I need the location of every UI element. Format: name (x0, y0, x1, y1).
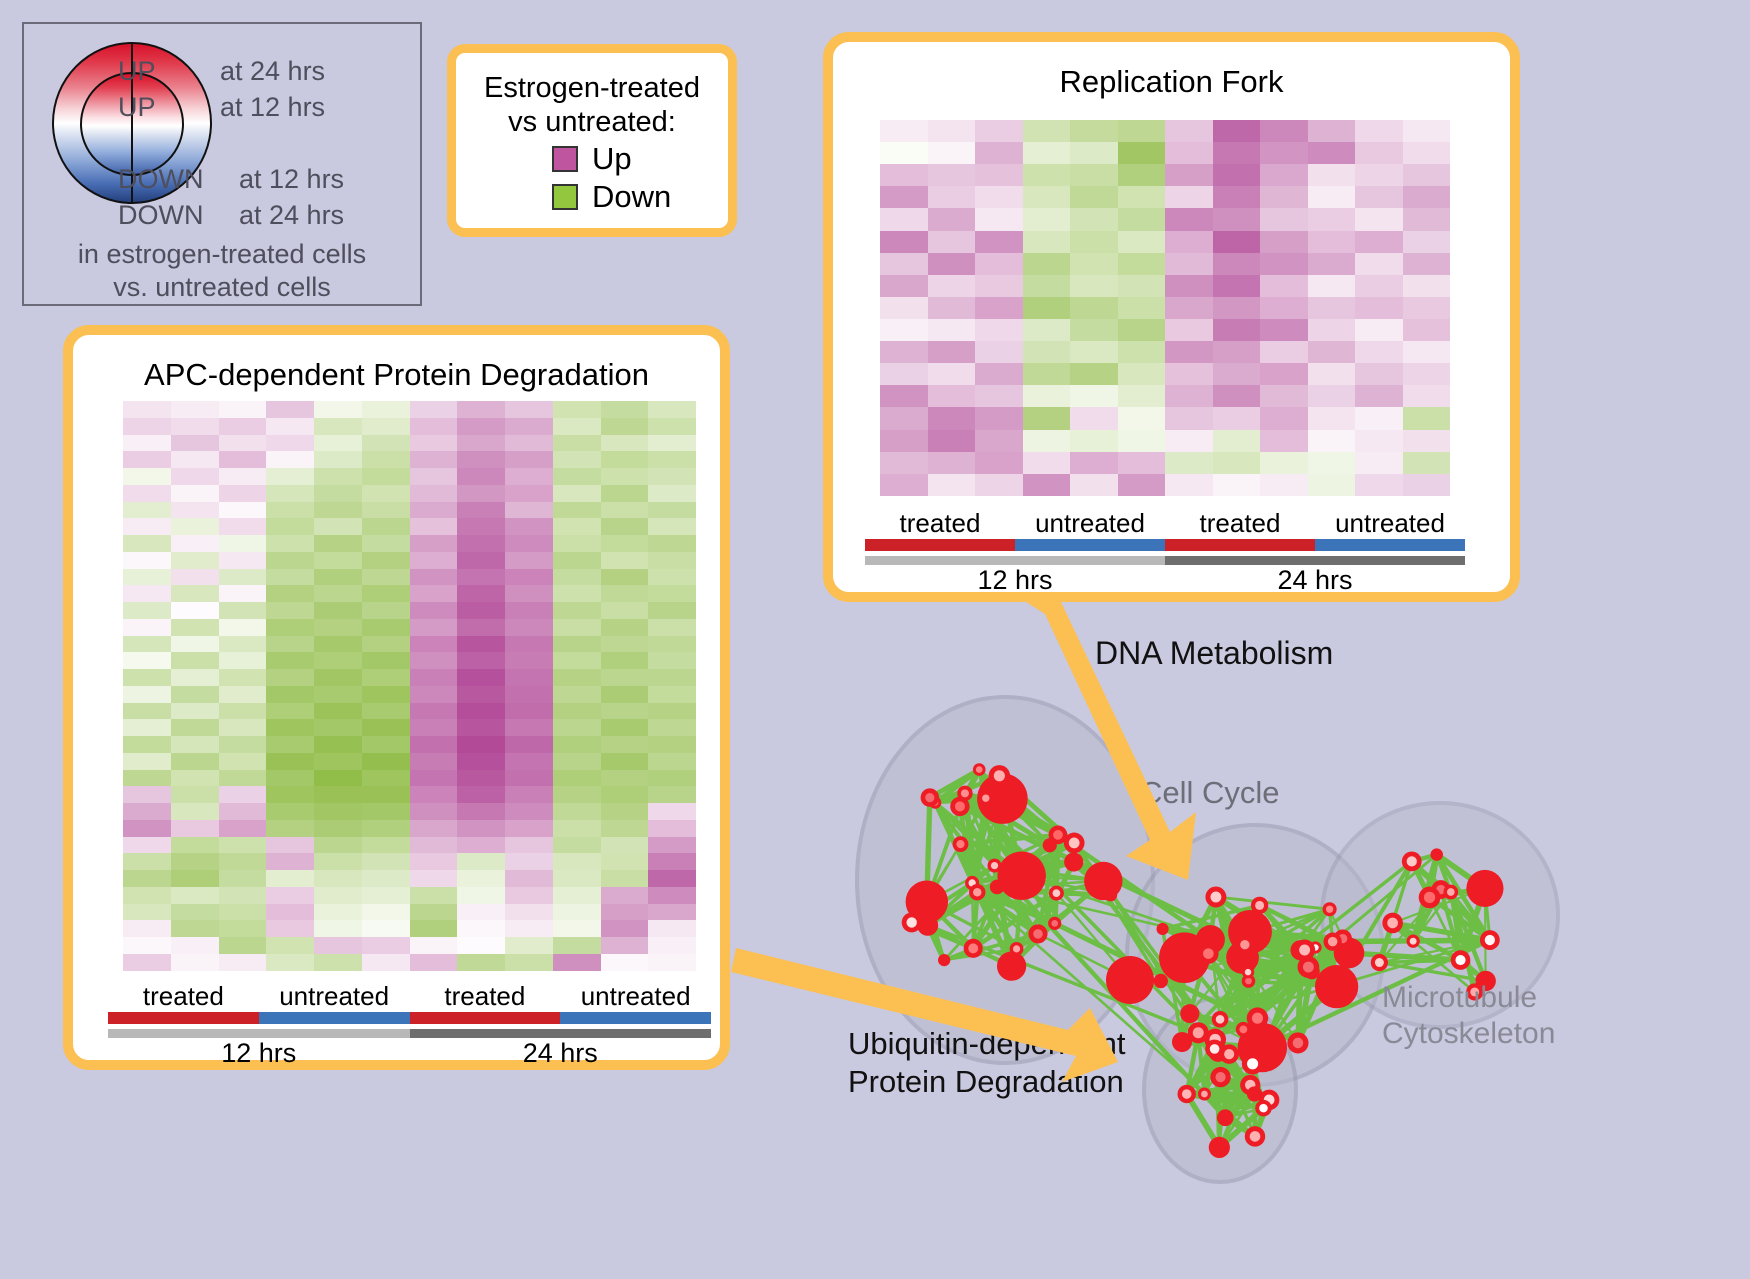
heatmap-cell (1403, 186, 1451, 208)
heatmap-cell (505, 904, 553, 921)
network-node[interactable] (1198, 943, 1218, 963)
heatmap-cell (362, 753, 410, 770)
network-node[interactable] (989, 765, 1010, 786)
network-node[interactable] (1406, 935, 1419, 948)
heatmap-cell (1403, 275, 1451, 297)
network-node[interactable] (1255, 1100, 1271, 1116)
wheel-caption: in estrogen-treated cells vs. untreated … (24, 238, 420, 305)
network-node[interactable] (1049, 886, 1064, 901)
heatmap-cell (219, 920, 267, 937)
heatmap-cell (1023, 253, 1071, 275)
network-node[interactable] (1324, 933, 1342, 951)
heatmap-cell (1118, 164, 1166, 186)
node-inner-fill (1424, 892, 1435, 903)
heatmap-cell (553, 887, 601, 904)
network-node[interactable] (938, 954, 950, 966)
heatmap-cell (123, 602, 171, 619)
node-inner-fill (907, 917, 917, 927)
heatmap-cell (553, 803, 601, 820)
heatmap-cell (505, 870, 553, 887)
heatmap-cell (457, 652, 505, 669)
heatmap-cell (601, 887, 649, 904)
node-inner-fill (1210, 1044, 1220, 1054)
heatmap-cell (1260, 407, 1308, 429)
heatmap-cell (1118, 385, 1166, 407)
heatmap-cell (123, 703, 171, 720)
network-node[interactable] (997, 952, 1026, 981)
heatmap-cell (171, 753, 219, 770)
network-node[interactable] (1048, 917, 1061, 930)
heatmap-cell (266, 870, 314, 887)
heatmap-cell (601, 803, 649, 820)
heatmap-cell (1023, 363, 1071, 385)
heatmap-cell (648, 619, 696, 636)
heatmap-cell (648, 904, 696, 921)
network-node[interactable] (1180, 1004, 1199, 1023)
heatmap-cell (1070, 186, 1118, 208)
network-node[interactable] (1209, 1137, 1230, 1158)
heatmap-cell (553, 518, 601, 535)
heatmap-cell (123, 451, 171, 468)
heatmap-cell (1213, 452, 1261, 474)
heatmap-cell (171, 904, 219, 921)
heatmap-row (123, 619, 696, 636)
heatmap-cell (123, 904, 171, 921)
heatmap-cell (457, 920, 505, 937)
heatmap-cell (314, 904, 362, 921)
heatmap-cell (1355, 430, 1403, 452)
network-node[interactable] (1382, 913, 1403, 934)
heatmap-cell (171, 837, 219, 854)
heatmap-cell (1308, 120, 1356, 142)
heatmap-cell (1165, 231, 1213, 253)
node-inner-fill (973, 888, 982, 897)
heatmap-cell (171, 820, 219, 837)
network-node[interactable] (969, 884, 985, 900)
network-node[interactable] (1242, 966, 1254, 978)
network-node[interactable] (1028, 924, 1047, 943)
network-node[interactable] (1104, 888, 1117, 901)
heatmap-cell (266, 485, 314, 502)
node-inner-fill (1247, 1058, 1258, 1069)
network-node[interactable] (1217, 1109, 1234, 1126)
heatmap-cell (553, 468, 601, 485)
network-node[interactable] (1251, 897, 1268, 914)
heatmap-cell (410, 552, 458, 569)
heatmap-cell (553, 937, 601, 954)
heatmap-cell (880, 186, 928, 208)
heatmap-cell (648, 786, 696, 803)
heatmap-cell (266, 820, 314, 837)
heatmap-cell (1023, 186, 1071, 208)
heatmap-cell (1070, 341, 1118, 363)
heatmap-cell (928, 186, 976, 208)
heatmap-cell (1260, 186, 1308, 208)
node-inner-fill (1299, 945, 1310, 956)
heatmap-cell (880, 452, 928, 474)
heatmap-cell (171, 451, 219, 468)
network-node[interactable] (988, 859, 1002, 873)
heatmap-cell (1213, 208, 1261, 230)
network-node[interactable] (1177, 1085, 1195, 1103)
heatmap-cell (1355, 208, 1403, 230)
node-inner-fill (1216, 1015, 1225, 1024)
heatmap-cell (975, 474, 1023, 496)
heatmap-cell (1260, 231, 1308, 253)
heatmap-cell (219, 552, 267, 569)
heatmap-cell (505, 418, 553, 435)
heatmap-cell (1118, 363, 1166, 385)
wheel-caption-line2: vs. untreated cells (24, 271, 420, 304)
heatmap-row (123, 803, 696, 820)
heatmap-cell (219, 786, 267, 803)
heatmap-cell (314, 518, 362, 535)
heatmap-cell (171, 853, 219, 870)
heatmap-cell (1118, 142, 1166, 164)
heatmap-cell (219, 418, 267, 435)
node-inner-fill (1387, 918, 1398, 929)
heatmap-cell (314, 920, 362, 937)
heatmap-cell (362, 435, 410, 452)
network-node[interactable] (957, 786, 972, 801)
heatmap-cell (648, 719, 696, 736)
node-outer-ring (938, 954, 950, 966)
heatmap-cell (1403, 319, 1451, 341)
heatmap-cell (410, 518, 458, 535)
heatmap-cell (1355, 341, 1403, 363)
heatmap-cell (266, 636, 314, 653)
network-node[interactable] (990, 880, 1005, 895)
heatmap-cell (171, 803, 219, 820)
heatmap-cell (219, 686, 267, 703)
heatmap-cell (314, 820, 362, 837)
heatmap-cell (362, 803, 410, 820)
heatmap-cell (171, 920, 219, 937)
heatmap-cell (362, 820, 410, 837)
node-inner-fill (1407, 856, 1417, 866)
heatmap-cell (266, 418, 314, 435)
condition-labels-replication-fork: treated untreated treated untreated (865, 508, 1465, 539)
heatmap-cell (219, 887, 267, 904)
heatmap-cell (410, 853, 458, 870)
network-node[interactable] (1443, 885, 1458, 900)
heatmap-cell (219, 502, 267, 519)
heatmap-row (123, 652, 696, 669)
heatmap-cell (314, 552, 362, 569)
heatmap-cell (266, 686, 314, 703)
network-node[interactable] (1466, 870, 1503, 907)
heatmap-cell (648, 552, 696, 569)
condition-labels-apc: treated untreated treated untreated (108, 981, 711, 1012)
heatmap-cell (314, 887, 362, 904)
heatmap-cell (266, 937, 314, 954)
network-node[interactable] (1205, 886, 1226, 907)
network-node[interactable] (1245, 1126, 1265, 1146)
heatmap-cell (410, 652, 458, 669)
heatmap-cell (219, 853, 267, 870)
heatmap-cell (648, 703, 696, 720)
heatmap-cell (410, 451, 458, 468)
node-outer-ring (1180, 1004, 1199, 1023)
network-node[interactable] (1247, 1007, 1268, 1028)
heatmap-row (123, 837, 696, 854)
heatmap-cell (601, 619, 649, 636)
heatmap-cell (123, 870, 171, 887)
heatmap-cell (601, 535, 649, 552)
heatmap-cell (219, 585, 267, 602)
heatmap-cell (123, 468, 171, 485)
estrogen-title-line2: vs untreated: (456, 105, 728, 139)
heatmap-cell (219, 954, 267, 971)
network-node[interactable] (1212, 1011, 1229, 1028)
node-inner-fill (1203, 948, 1214, 959)
heatmap-cell (1118, 407, 1166, 429)
heatmap-cell (171, 619, 219, 636)
heatmap-cell (505, 954, 553, 971)
heatmap-cell (123, 803, 171, 820)
condition-label: treated (1165, 508, 1315, 539)
network-node[interactable] (1371, 954, 1388, 971)
heatmap-cell (123, 652, 171, 669)
network-node[interactable] (1287, 1032, 1308, 1053)
heatmap-cell (219, 602, 267, 619)
heatmap-cell (553, 652, 601, 669)
network-node[interactable] (1049, 826, 1068, 845)
condition-label: treated (108, 981, 259, 1012)
network-node[interactable] (1480, 930, 1500, 950)
heatmap-cell (123, 686, 171, 703)
heatmap-cell (1260, 385, 1308, 407)
heatmap-row (123, 485, 696, 502)
heatmap-cell (1403, 385, 1451, 407)
heatmap-cell (410, 619, 458, 636)
heatmap-cell (266, 602, 314, 619)
node-inner-fill (1069, 838, 1080, 849)
heatmap-cell (266, 770, 314, 787)
network-node[interactable] (1198, 1087, 1211, 1100)
heatmap-cell (553, 552, 601, 569)
heatmap-cell (1260, 142, 1308, 164)
heatmap-cell (553, 686, 601, 703)
heatmap-cell (1213, 341, 1261, 363)
heatmap-cell (219, 485, 267, 502)
heatmap-cell (505, 652, 553, 669)
heatmap-cell (457, 485, 505, 502)
heatmap-cell (648, 753, 696, 770)
heatmap-cell (1165, 186, 1213, 208)
heatmap-cell (410, 954, 458, 971)
heatmap-row (880, 208, 1450, 230)
heatmap-cell (457, 401, 505, 418)
heatmap-cell (553, 820, 601, 837)
network-node[interactable] (921, 788, 939, 806)
heatmap-cell (314, 418, 362, 435)
heatmap-cell (314, 451, 362, 468)
wheel-label-down-12: DOWN (118, 164, 203, 195)
heatmap-cell (457, 418, 505, 435)
legend-label-down: Down (592, 179, 671, 215)
heatmap-row (880, 430, 1450, 452)
network-node[interactable] (1157, 923, 1169, 935)
heatmap-cell (1023, 474, 1071, 496)
heatmap-cell (648, 518, 696, 535)
heatmap-cell (1308, 142, 1356, 164)
heatmap-cell (410, 686, 458, 703)
heatmap-cell (457, 552, 505, 569)
heatmap-cell (123, 820, 171, 837)
heatmap-cell (1260, 253, 1308, 275)
heatmap-cell (1355, 363, 1403, 385)
network-node[interactable] (1242, 1053, 1263, 1074)
heatmap-cell (648, 502, 696, 519)
heatmap-cell (123, 736, 171, 753)
heatmap-cell (410, 468, 458, 485)
heatmap-footer-apc-degradation: treated untreated treated untreated 12 h… (108, 981, 711, 1069)
heatmap-cell (123, 937, 171, 954)
heatmap-cell (123, 753, 171, 770)
network-node[interactable] (1210, 1067, 1230, 1087)
heatmap-cell (1213, 142, 1261, 164)
heatmap-cell (1403, 208, 1451, 230)
wheel-caption-line1: in estrogen-treated cells (24, 238, 420, 271)
heatmap-cell (975, 120, 1023, 142)
network-node[interactable] (979, 791, 993, 805)
network-node[interactable] (1323, 902, 1337, 916)
heatmap-cell (1403, 474, 1451, 496)
condition-swatch-untreated-24 (1315, 539, 1465, 551)
heatmap-cell (1023, 385, 1071, 407)
legend-item-down: Down (552, 179, 728, 215)
heatmap-cell (1260, 120, 1308, 142)
heatmap-row (123, 636, 696, 653)
network-node[interactable] (902, 912, 922, 932)
heatmap-cell (648, 636, 696, 653)
heatmap-row (880, 231, 1450, 253)
heatmap-cell (1023, 407, 1071, 429)
heatmap-cell (457, 904, 505, 921)
heatmap-cell (1308, 385, 1356, 407)
heatmap-cell (505, 937, 553, 954)
heatmap-cell (505, 686, 553, 703)
wheel-time-up-12: at 12 hrs (220, 92, 325, 123)
heatmap-cell (219, 937, 267, 954)
time-bar-apc (108, 1029, 711, 1038)
network-node[interactable] (953, 836, 969, 852)
heatmap-cell (410, 435, 458, 452)
heatmap-cell (1165, 319, 1213, 341)
heatmap-cell (171, 552, 219, 569)
heatmap-cell (553, 401, 601, 418)
heatmap-cell (553, 719, 601, 736)
heatmap-cell (123, 636, 171, 653)
heatmap-cell (266, 401, 314, 418)
heatmap-cell (314, 753, 362, 770)
network-node[interactable] (1064, 852, 1083, 871)
heatmap-cell (928, 208, 976, 230)
heatmap-cell (410, 837, 458, 854)
heatmap-row (123, 552, 696, 569)
heatmap-cell (362, 418, 410, 435)
node-inner-fill (955, 801, 965, 811)
heatmap-cell (601, 451, 649, 468)
network-node[interactable] (1315, 965, 1358, 1008)
heatmap-cell (123, 502, 171, 519)
network-node[interactable] (1010, 942, 1024, 956)
network-node[interactable] (1172, 1032, 1192, 1052)
heatmap-cell (601, 770, 649, 787)
heatmap-cell (1165, 474, 1213, 496)
legend-item-up: Up (552, 141, 728, 177)
heatmap-cell (505, 619, 553, 636)
heatmap-cell (880, 208, 928, 230)
heatmap-cell (1023, 430, 1071, 452)
heatmap-cell (601, 585, 649, 602)
heatmap-cell (553, 569, 601, 586)
heatmap-row (880, 275, 1450, 297)
heatmap-cell (601, 686, 649, 703)
network-node[interactable] (997, 851, 1045, 899)
heatmap-cell (1355, 407, 1403, 429)
heatmap-cell (266, 569, 314, 586)
node-inner-fill (1303, 962, 1314, 973)
network-node[interactable] (1106, 956, 1154, 1004)
node-inner-fill (1053, 889, 1061, 897)
time-labels-apc: 12 hrs 24 hrs (108, 1038, 711, 1069)
heatmap-cell (1260, 430, 1308, 452)
heatmap-cell (314, 435, 362, 452)
node-inner-fill (1239, 1025, 1247, 1033)
heatmap-cell (362, 770, 410, 787)
node-outer-ring (1172, 1032, 1192, 1052)
network-node[interactable] (1236, 936, 1254, 954)
heatmap-cell (601, 518, 649, 535)
heatmap-cell (410, 401, 458, 418)
heatmap-cell (457, 937, 505, 954)
heatmap-cell (1165, 363, 1213, 385)
network-node[interactable] (973, 763, 986, 776)
heatmap-cell (1118, 319, 1166, 341)
network-node[interactable] (1294, 939, 1315, 960)
heatmap-cell (648, 451, 696, 468)
network-node[interactable] (1402, 852, 1422, 872)
heatmap-row (123, 937, 696, 954)
heatmap-row (880, 319, 1450, 341)
heatmap-cell (219, 451, 267, 468)
heatmap-cell (266, 887, 314, 904)
network-node[interactable] (1430, 848, 1443, 861)
heatmap-cell (171, 585, 219, 602)
heatmap-cell (553, 904, 601, 921)
heatmap-cell (410, 920, 458, 937)
network-node[interactable] (1154, 974, 1168, 988)
node-inner-fill (956, 840, 964, 848)
heatmap-cell (410, 719, 458, 736)
network-node[interactable] (964, 939, 983, 958)
heatmap-cell (314, 468, 362, 485)
network-node[interactable] (1205, 1040, 1224, 1059)
heatmap-cell (1023, 275, 1071, 297)
heatmap-cell (505, 468, 553, 485)
network-node[interactable] (1451, 950, 1471, 970)
heatmap-cell (457, 954, 505, 971)
heatmap-row (880, 164, 1450, 186)
network-node[interactable] (1419, 887, 1441, 909)
heatmap-cell (1213, 120, 1261, 142)
heatmap-footer-replication-fork: treated untreated treated untreated 12 h… (865, 508, 1465, 596)
heatmap-cell (410, 937, 458, 954)
heatmap-cell (505, 401, 553, 418)
heatmap-cell (553, 753, 601, 770)
